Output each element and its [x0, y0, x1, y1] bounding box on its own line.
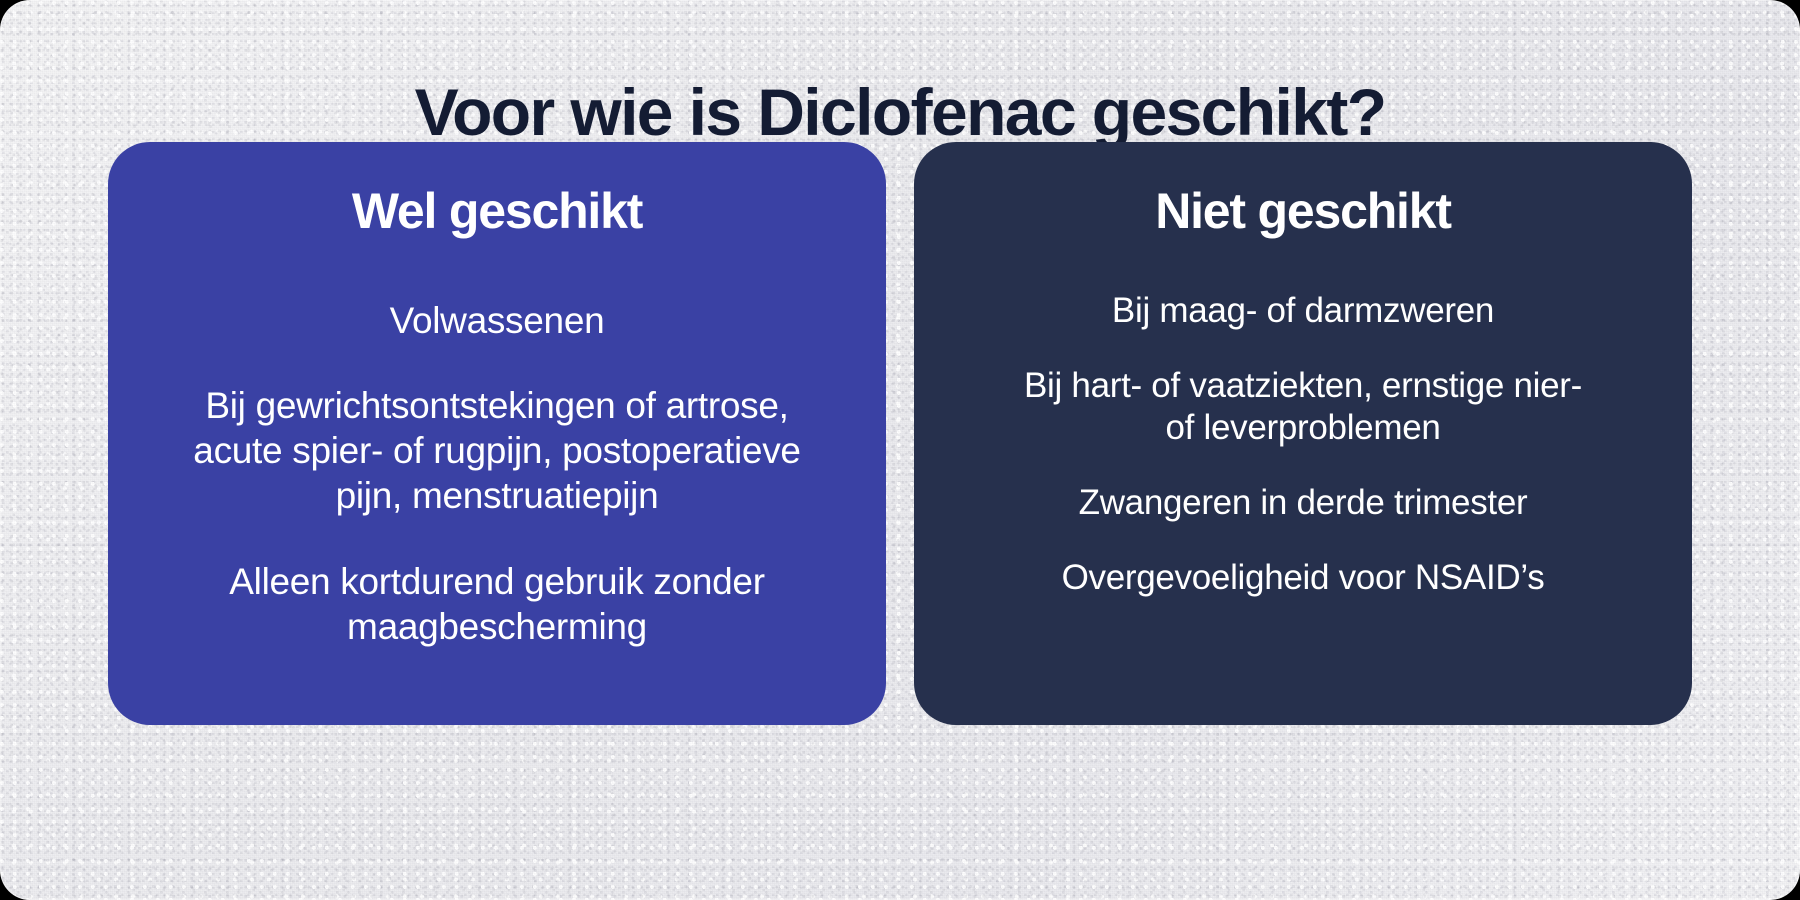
list-item: Volwassenen — [390, 298, 605, 343]
list-item: Bij maag- of darmzweren — [1112, 290, 1494, 333]
card-niet-geschikt: Niet geschikt Bij maag- of darmzweren Bi… — [914, 142, 1692, 725]
list-item: Alleen kortdurend gebruik zonder maagbes… — [177, 559, 817, 649]
list-wel-geschikt: Volwassenen Bij gewrichtsontstekingen of… — [142, 298, 852, 649]
list-item: Bij gewrichtsontstekingen of artrose, ac… — [177, 383, 817, 518]
page-title: Voor wie is Diclofenac geschikt? — [0, 78, 1800, 147]
card-heading-niet-geschikt: Niet geschikt — [1155, 182, 1451, 240]
list-item: Bij hart- of vaatziekten, ernstige nier-… — [1023, 365, 1583, 450]
infographic-root: Voor wie is Diclofenac geschikt? Wel ges… — [0, 0, 1800, 900]
card-wel-geschikt: Wel geschikt Volwassenen Bij gewrichtson… — [108, 142, 886, 725]
comparison-card-group: Wel geschikt Volwassenen Bij gewrichtson… — [108, 142, 1692, 725]
list-item: Zwangeren in derde trimester — [1079, 482, 1528, 525]
list-niet-geschikt: Bij maag- of darmzweren Bij hart- of vaa… — [948, 290, 1658, 599]
card-heading-wel-geschikt: Wel geschikt — [352, 182, 642, 240]
list-item: Overgevoeligheid voor NSAID’s — [1062, 557, 1545, 600]
